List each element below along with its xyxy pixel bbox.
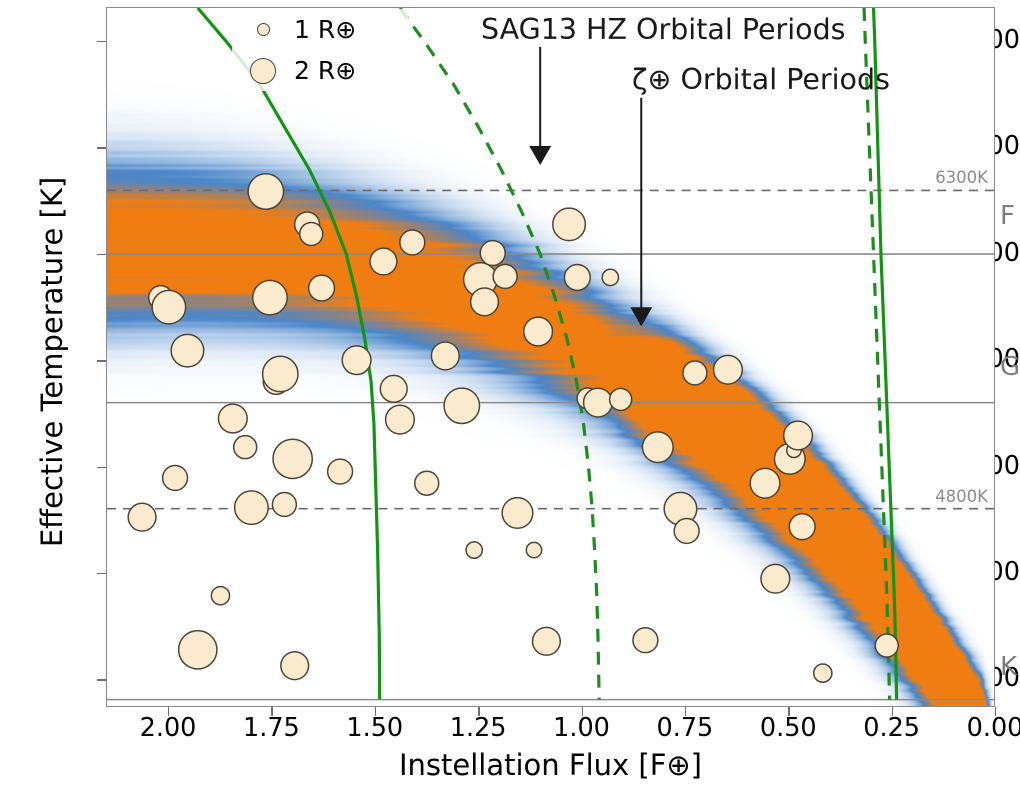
x-tick-label: 1.25 xyxy=(418,716,538,742)
x-tick-mark xyxy=(478,707,479,716)
planet-marker xyxy=(814,664,832,682)
planet-marker xyxy=(211,587,229,605)
x-tick-mark xyxy=(582,707,583,716)
plot-overlay xyxy=(107,8,994,706)
planet-marker xyxy=(171,334,204,367)
planet-marker xyxy=(248,174,283,209)
planet-marker xyxy=(789,514,815,540)
legend-marker-2re-cell xyxy=(232,58,294,84)
planet-marker xyxy=(584,388,613,417)
x-tick-label: 0.25 xyxy=(832,716,952,742)
x-tick-label: 1.00 xyxy=(522,716,642,742)
planet-marker xyxy=(380,375,407,402)
planet-marker xyxy=(553,208,586,241)
x-tick-label: 1.75 xyxy=(211,716,331,742)
planet-marker xyxy=(642,432,673,463)
planet-marker xyxy=(526,542,541,557)
x-tick-mark xyxy=(685,707,686,716)
planet-marker xyxy=(493,264,517,288)
planet-marker xyxy=(300,222,323,245)
planet-marker xyxy=(524,317,553,346)
planet-scatter-points xyxy=(128,174,898,682)
y-tick-mark xyxy=(97,467,106,468)
annotation-sag13-hz: SAG13 HZ Orbital Periods xyxy=(481,16,846,45)
x-tick-mark xyxy=(168,707,169,716)
planet-marker xyxy=(263,356,298,391)
y-tick-mark xyxy=(97,41,106,42)
planet-marker xyxy=(163,465,188,490)
x-tick-mark xyxy=(995,707,996,716)
planet-marker xyxy=(444,388,479,423)
planet-marker xyxy=(235,491,269,525)
planet-marker xyxy=(309,275,335,301)
temperature-threshold-label: 4800K xyxy=(935,489,988,506)
x-tick-label: 2.00 xyxy=(108,716,228,742)
x-tick-label: 0.50 xyxy=(728,716,848,742)
x-tick-mark xyxy=(892,707,893,716)
planet-marker xyxy=(281,652,309,680)
x-tick-mark xyxy=(788,707,789,716)
planet-marker xyxy=(480,241,505,266)
legend-marker-1re-cell xyxy=(232,23,294,36)
arrow-zeta-earth-head xyxy=(630,307,652,326)
planet-marker xyxy=(128,503,156,531)
planet-marker xyxy=(328,459,353,484)
planet-marker xyxy=(602,269,618,285)
planet-marker xyxy=(875,634,898,657)
planet-marker xyxy=(466,542,482,558)
planet-marker xyxy=(471,288,499,316)
planet-marker xyxy=(234,436,257,459)
y-axis-title-text: Effective Temperature [K] xyxy=(35,177,69,547)
planet-marker xyxy=(714,355,743,384)
annotation-zeta-earth: ζ⊕ Orbital Periods xyxy=(632,66,890,95)
planet-marker xyxy=(272,492,296,516)
planet-marker xyxy=(152,290,186,324)
x-axis-title: Instellation Flux [F⊕] xyxy=(106,748,995,782)
spectral-class-label-g: G xyxy=(1000,354,1020,380)
x-axis-title-text: Instellation Flux [F⊕] xyxy=(399,748,702,782)
planet-marker xyxy=(761,564,790,593)
legend-label-2re: 2 R⊕ xyxy=(294,58,356,83)
planet-marker xyxy=(370,248,397,275)
planet-marker xyxy=(633,628,658,653)
chart-figure: Effective Temperature [K] Instellation F… xyxy=(0,0,1020,787)
x-tick-mark xyxy=(375,707,376,716)
planet-marker xyxy=(683,361,707,385)
y-tick-mark xyxy=(97,360,106,361)
planet-marker xyxy=(564,265,590,291)
planet-marker xyxy=(415,471,439,495)
planet-marker xyxy=(431,342,459,370)
planet-marker xyxy=(532,627,560,655)
legend-row-1re: 1 R⊕ xyxy=(232,9,408,50)
legend-marker-2re-icon xyxy=(250,58,276,84)
planet-marker xyxy=(610,388,632,410)
orbital-period-curves xyxy=(198,8,897,700)
plot-area: 6300K4800K xyxy=(106,7,995,707)
planet-marker xyxy=(273,439,312,478)
temperature-threshold-label: 6300K xyxy=(935,170,988,187)
planet-marker xyxy=(179,631,217,669)
planet-marker xyxy=(386,405,415,434)
curve-sag13-hz-outer xyxy=(400,8,599,700)
planet-marker xyxy=(750,468,780,498)
planet-marker xyxy=(342,346,371,375)
planet-marker xyxy=(218,404,247,433)
legend-label-1re: 1 R⊕ xyxy=(294,17,356,42)
legend-row-2re: 2 R⊕ xyxy=(232,50,408,91)
planet-marker xyxy=(674,519,699,544)
y-tick-mark xyxy=(97,254,106,255)
planet-marker xyxy=(253,280,287,314)
x-tick-mark xyxy=(271,707,272,716)
x-tick-label: 0.00 xyxy=(935,716,1020,742)
spectral-class-label-k: K xyxy=(1000,654,1017,680)
y-tick-mark xyxy=(97,147,106,148)
marker-size-legend: 1 R⊕ 2 R⊕ xyxy=(232,9,408,91)
arrow-sag13-hz-head xyxy=(529,146,551,165)
y-tick-mark xyxy=(97,679,106,680)
y-tick-mark xyxy=(97,573,106,574)
planet-marker xyxy=(400,230,425,255)
planet-marker xyxy=(784,421,813,450)
legend-marker-1re-icon xyxy=(257,23,270,36)
planet-marker xyxy=(502,498,533,529)
y-axis-title: Effective Temperature [K] xyxy=(35,42,69,682)
spectral-class-label-f: F xyxy=(1000,203,1015,229)
x-tick-label: 0.75 xyxy=(625,716,745,742)
x-tick-label: 1.50 xyxy=(315,716,435,742)
